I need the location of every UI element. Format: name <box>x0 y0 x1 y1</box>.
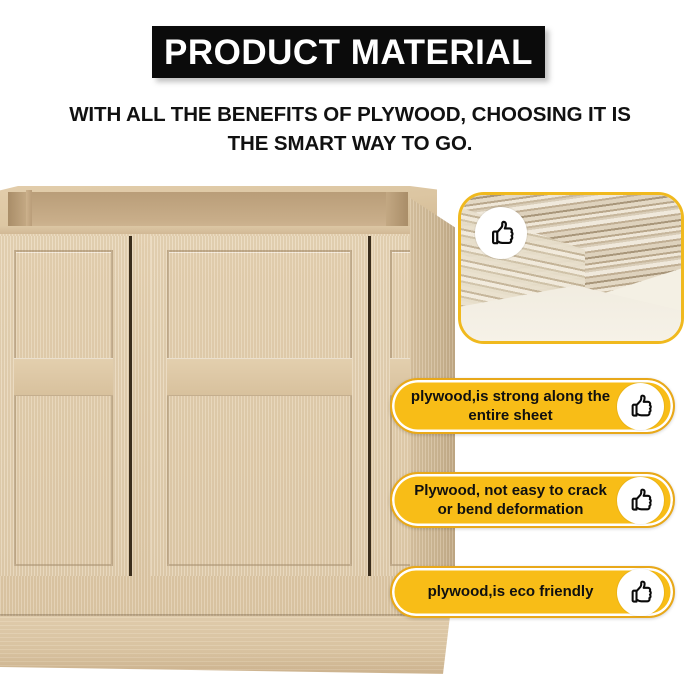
cabinet-toe-kick-plinth <box>0 616 450 674</box>
cabinet-door-center <box>151 236 371 576</box>
door-mid-rail <box>14 358 113 396</box>
page-subtitle: WITH ALL THE BENEFITS OF PLYWOOD, CHOOSI… <box>50 100 650 158</box>
thumbs-up-icon <box>617 569 664 616</box>
cabinet-door-left <box>0 236 132 576</box>
plywood-edge-inset-photo <box>458 192 684 344</box>
product-photo-cabinet <box>0 186 455 636</box>
thumbs-up-icon <box>617 477 664 524</box>
door-panel-inset <box>167 250 352 566</box>
product-material-infographic: PRODUCT MATERIAL WITH ALL THE BENEFITS O… <box>0 0 700 700</box>
door-panel-inset <box>14 250 113 566</box>
thumbs-up-icon <box>617 383 664 430</box>
feature-badge-2: Plywood, not easy to crack or bend defor… <box>390 472 675 528</box>
thumbs-up-icon <box>475 207 527 259</box>
feature-badge-3: plywood,is eco friendly <box>390 566 675 618</box>
page-title: PRODUCT MATERIAL <box>164 35 533 70</box>
feature-badge-3-text: plywood,is eco friendly <box>392 582 617 601</box>
door-mid-rail <box>167 358 352 396</box>
feature-badge-2-text: Plywood, not easy to crack or bend defor… <box>392 481 617 519</box>
feature-badge-1-text: plywood,is strong along the entire sheet <box>392 387 617 425</box>
feature-badge-1: plywood,is strong along the entire sheet <box>390 378 675 434</box>
page-title-banner: PRODUCT MATERIAL <box>152 26 545 78</box>
